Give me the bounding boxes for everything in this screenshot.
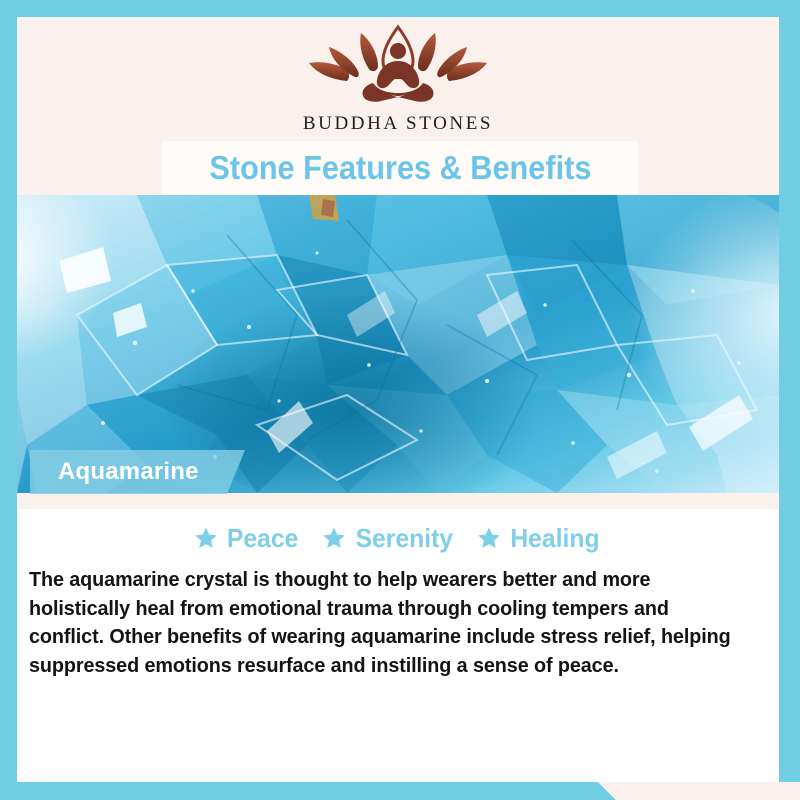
frame-border-top xyxy=(0,0,800,17)
feature-label: Healing xyxy=(511,523,600,554)
feature-list: Peace Serenity Healing xyxy=(17,518,779,558)
title-banner: Stone Features & Benefits xyxy=(162,141,638,195)
star-icon xyxy=(322,526,346,550)
star-icon xyxy=(477,526,501,550)
brand-logo: BUDDHA STONES xyxy=(17,23,779,135)
infographic-page: BUDDHA STONES Stone Features & Benefits xyxy=(0,0,800,800)
content-area: Peace Serenity Healing The aquamarine cr… xyxy=(17,509,779,782)
frame-border-left xyxy=(0,0,17,790)
feature-label: Peace xyxy=(227,523,298,554)
aquamarine-crystal-photo xyxy=(17,195,779,493)
crystal-photo-artwork xyxy=(17,195,779,493)
cream-divider-strip xyxy=(17,493,779,509)
stone-description: The aquamarine crystal is thought to hel… xyxy=(29,566,741,680)
lotus-meditation-figure-icon xyxy=(303,23,493,111)
feature-label: Serenity xyxy=(355,523,452,554)
brand-name: BUDDHA STONES xyxy=(303,113,493,135)
frame-border-right xyxy=(779,0,800,800)
page-title: Stone Features & Benefits xyxy=(209,149,591,187)
stone-name-banner: Aquamarine xyxy=(30,450,245,494)
feature-item-peace: Peace xyxy=(194,523,300,554)
feature-item-serenity: Serenity xyxy=(322,523,456,554)
stone-name-label: Aquamarine xyxy=(58,458,199,486)
feature-item-healing: Healing xyxy=(477,523,602,554)
star-icon xyxy=(194,526,218,550)
